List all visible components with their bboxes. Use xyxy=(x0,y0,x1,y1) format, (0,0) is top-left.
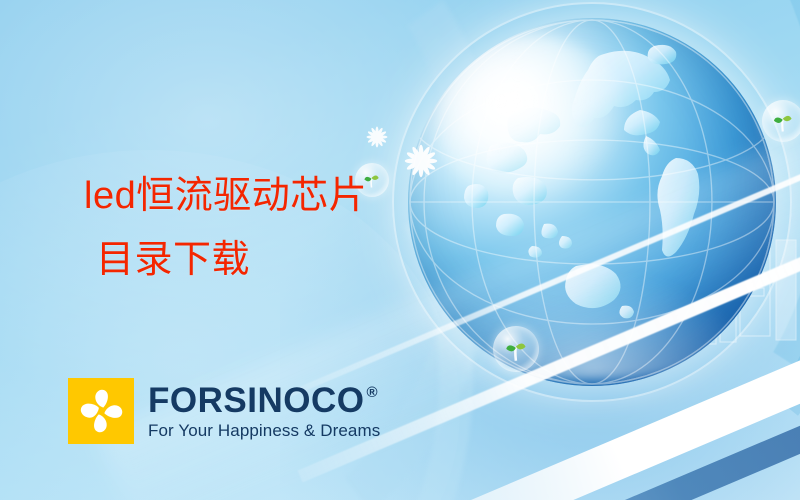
brand-name: FORSINOCO xyxy=(148,382,364,420)
brand-tagline: For Your Happiness & Dreams xyxy=(148,421,380,441)
headline-line-2: 目录下载 xyxy=(84,228,504,292)
headline-line-1: led恒流驱动芯片 xyxy=(84,164,504,228)
daisy-icon-2 xyxy=(366,126,388,148)
city-skyline-icon xyxy=(590,200,800,390)
registered-trademark-icon: ® xyxy=(366,385,378,400)
bubble-sprout-icon-2 xyxy=(493,326,539,372)
company-logo[interactable]: FORSINOCO ® For Your Happiness & Dreams xyxy=(68,378,380,444)
headline: led恒流驱动芯片 目录下载 xyxy=(84,164,504,292)
bubble-sprout-icon-3 xyxy=(762,100,800,142)
four-petal-pinwheel-icon xyxy=(68,378,134,444)
banner-canvas: led恒流驱动芯片 目录下载 FORSINOCO ® For Your Happ… xyxy=(0,0,800,500)
ribbon-2 xyxy=(354,276,800,500)
ribbon-3 xyxy=(387,328,800,500)
logo-text-block: FORSINOCO ® For Your Happiness & Dreams xyxy=(148,382,380,441)
brand-name-row: FORSINOCO ® xyxy=(148,382,380,420)
